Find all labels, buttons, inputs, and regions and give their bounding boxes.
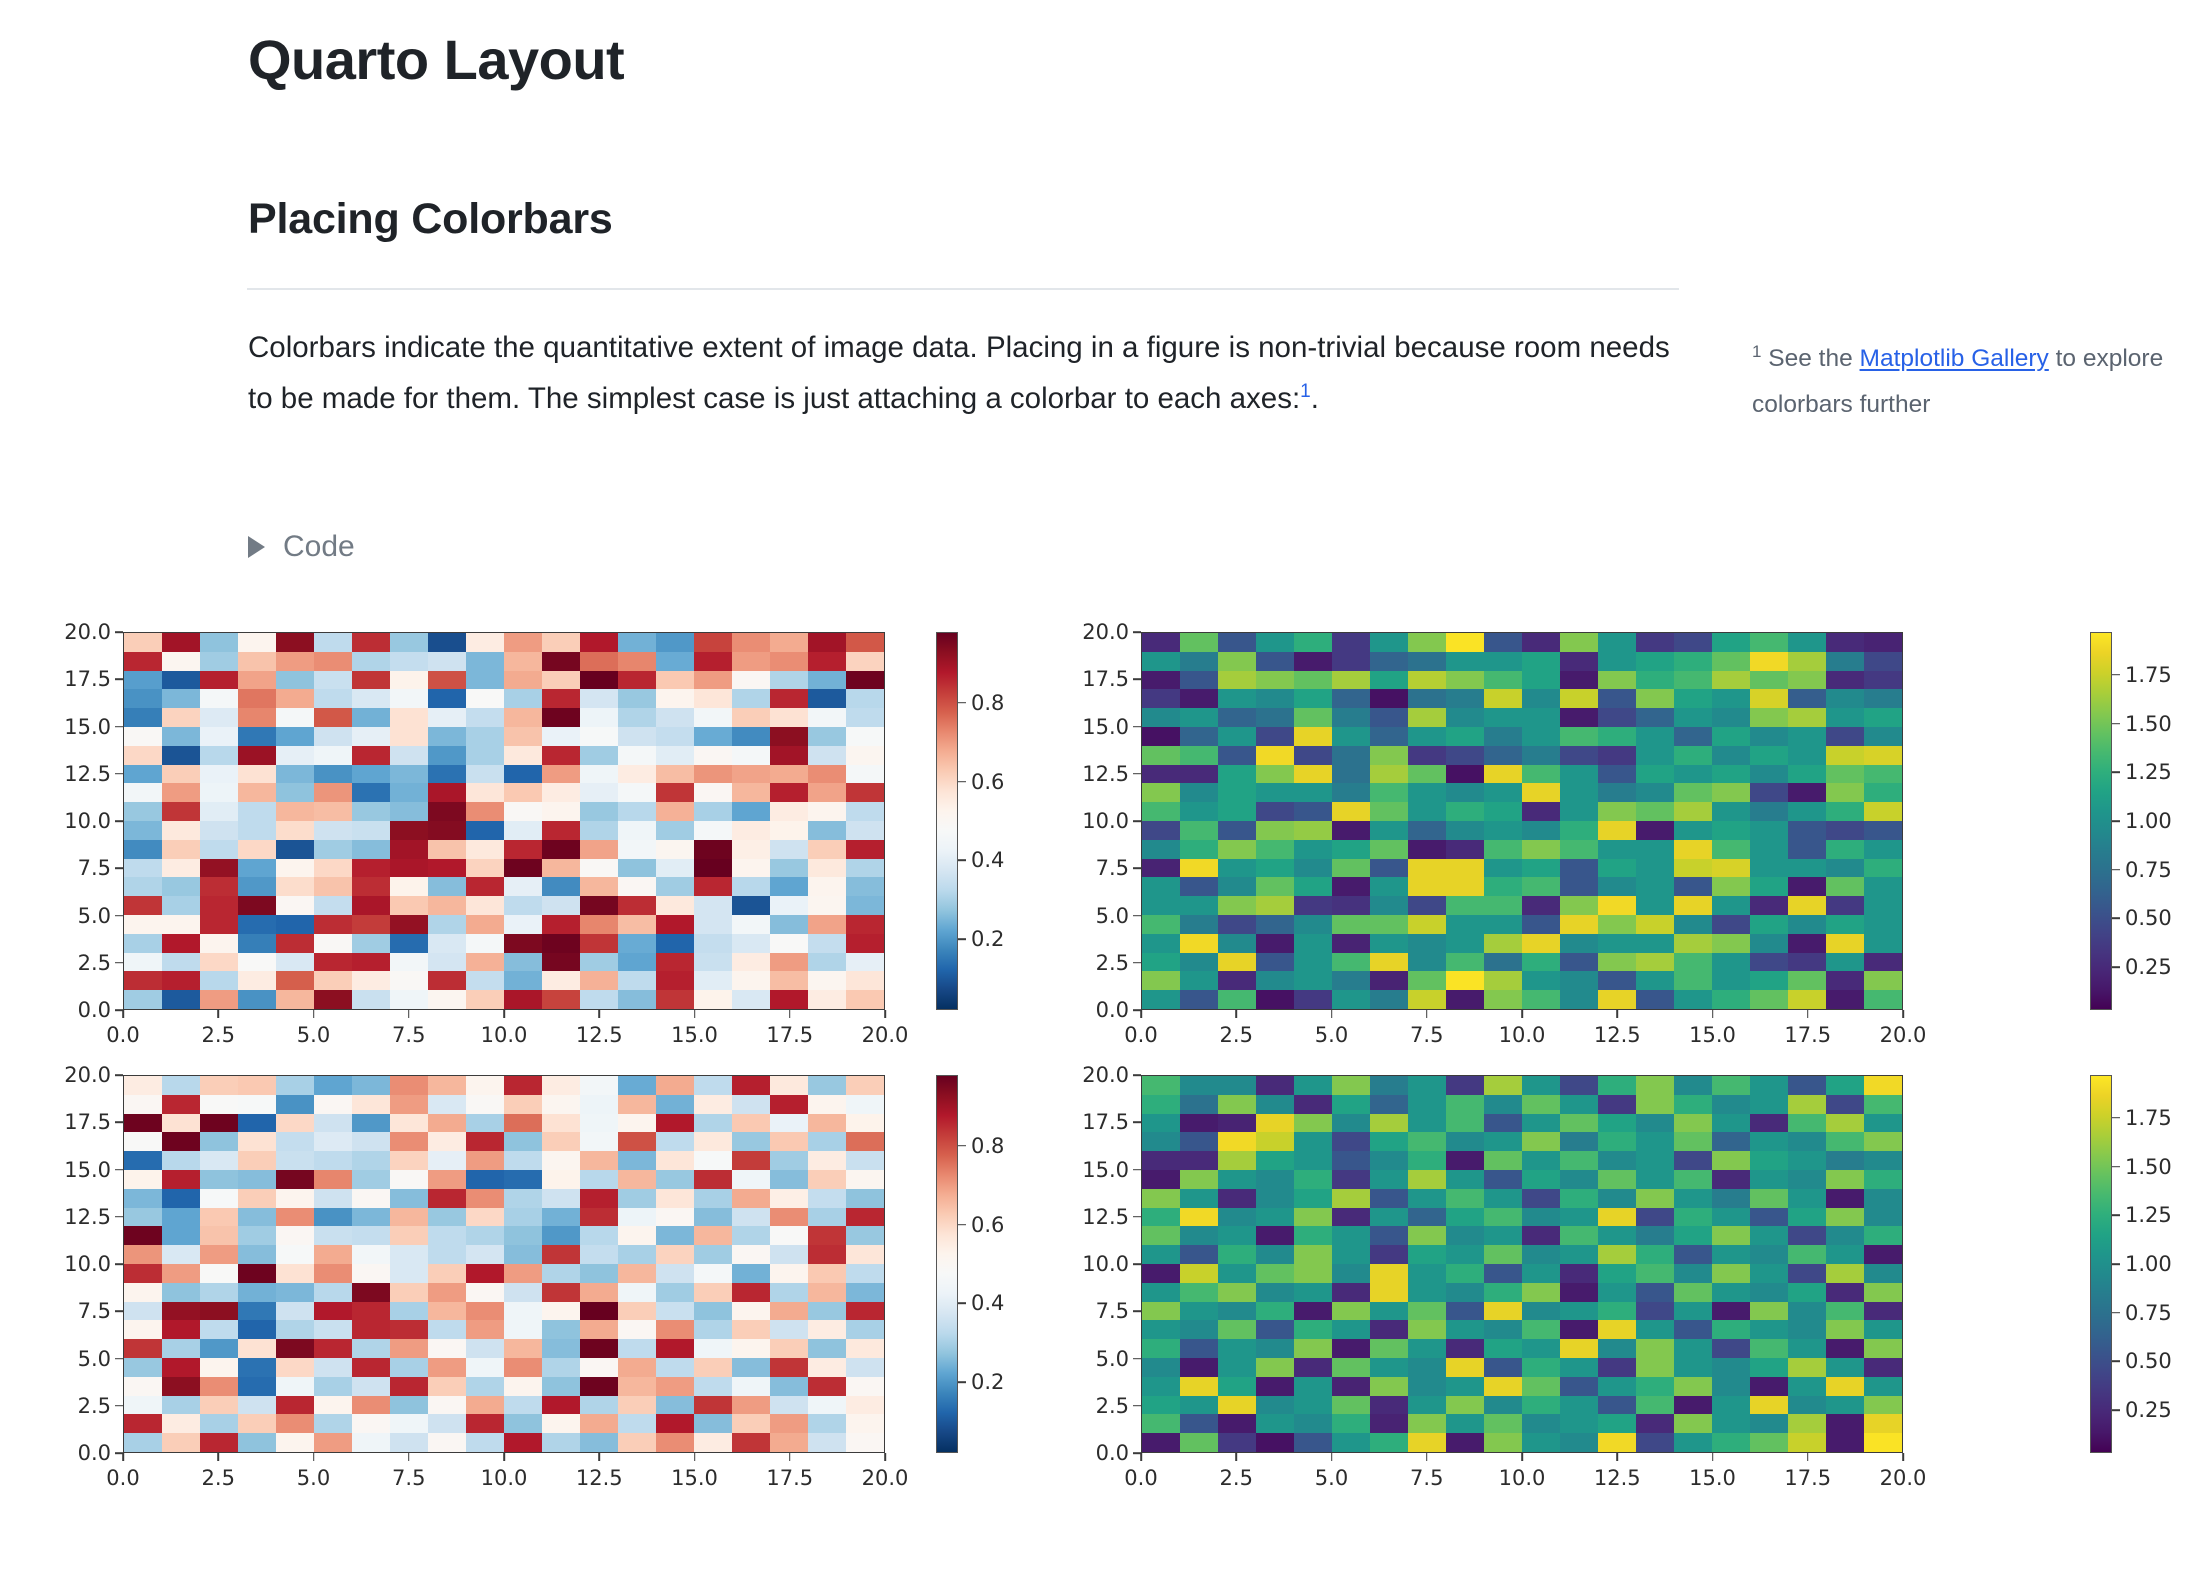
heatmap-cell <box>1484 1396 1522 1415</box>
heatmap-cell <box>770 802 808 821</box>
heatmap-cell <box>694 708 732 727</box>
heatmap-cell <box>352 746 390 765</box>
heatmap-cell <box>694 1377 732 1396</box>
heatmap-cell <box>1598 1358 1636 1377</box>
heatmap-cell <box>1408 859 1446 878</box>
heatmap-cell <box>770 708 808 727</box>
heatmap-cell <box>1598 1114 1636 1133</box>
heatmap-cell <box>1218 689 1256 708</box>
y-axis-tick-mark <box>1133 1074 1141 1076</box>
heatmap-cell <box>466 934 504 953</box>
heatmap-cell <box>1560 953 1598 972</box>
heatmap-cell <box>1294 727 1332 746</box>
heatmap-cell <box>1788 877 1826 896</box>
heatmap-cell <box>1522 1339 1560 1358</box>
heatmap-cell <box>390 1226 428 1245</box>
x-axis-tick-mark <box>1902 1453 1904 1461</box>
heatmap-cell <box>1636 934 1674 953</box>
heatmap-cell <box>1218 708 1256 727</box>
heatmap-cell <box>1256 953 1294 972</box>
heatmap-cell <box>542 1226 580 1245</box>
heatmap-cell <box>1370 783 1408 802</box>
heatmap-cell <box>1788 708 1826 727</box>
heatmap-cell <box>1598 1170 1636 1189</box>
heatmap-cell <box>1180 821 1218 840</box>
heatmap-cell <box>428 990 466 1009</box>
heatmap-cell <box>1332 1170 1370 1189</box>
heatmap-cell <box>1522 1396 1560 1415</box>
heatmap-cell <box>124 1114 162 1133</box>
heatmap-cell <box>808 1095 846 1114</box>
heatmap-cell <box>1256 1264 1294 1283</box>
heatmap-cell <box>162 727 200 746</box>
heatmap-cell <box>466 1283 504 1302</box>
heatmap-cell <box>1294 1377 1332 1396</box>
colorbar-tick-mark <box>2112 723 2120 725</box>
heatmap-cell <box>1598 1245 1636 1264</box>
heatmap-cell <box>1522 877 1560 896</box>
heatmap-cell <box>656 1076 694 1095</box>
heatmap-cell <box>694 1320 732 1339</box>
heatmap-cell <box>1256 746 1294 765</box>
heatmap-cell <box>1370 1170 1408 1189</box>
heatmap-cell <box>276 652 314 671</box>
heatmap-cell <box>1826 990 1864 1009</box>
heatmap-cell <box>1446 783 1484 802</box>
heatmap-cell <box>770 1245 808 1264</box>
heatmap-cell <box>1142 765 1180 784</box>
y-axis-tick-mark <box>1133 1009 1141 1011</box>
heatmap-cell <box>1256 971 1294 990</box>
y-axis-tick-mark <box>115 1263 123 1265</box>
heatmap-cell <box>466 1358 504 1377</box>
heatmap-cell <box>1370 1377 1408 1396</box>
heatmap-cell <box>542 1396 580 1415</box>
heatmap-cell <box>1446 1377 1484 1396</box>
heatmap-cell <box>1256 1433 1294 1452</box>
heatmap-cell <box>808 953 846 972</box>
heatmap-cell <box>694 727 732 746</box>
heatmap-cell <box>390 1264 428 1283</box>
heatmap-cell <box>1332 689 1370 708</box>
heatmap-cell <box>390 1189 428 1208</box>
heatmap-cell <box>1180 1320 1218 1339</box>
heatmap-cell <box>1484 802 1522 821</box>
heatmap-cell <box>1788 1320 1826 1339</box>
colorbar-tick-mark <box>958 781 966 783</box>
heatmap-cell <box>390 1245 428 1264</box>
heatmap-cell <box>694 990 732 1009</box>
heatmap-cell <box>124 1339 162 1358</box>
y-axis-tick-mark <box>1133 1216 1141 1218</box>
heatmap-cell <box>1788 915 1826 934</box>
heatmap-cell <box>428 633 466 652</box>
y-axis-tick-label: 0.0 <box>78 1441 111 1465</box>
heatmap-cell <box>1294 1132 1332 1151</box>
heatmap-cell <box>1370 727 1408 746</box>
heatmap-cell <box>1560 1320 1598 1339</box>
section-divider <box>247 288 1679 290</box>
heatmap-cell <box>466 708 504 727</box>
heatmap-cell <box>808 765 846 784</box>
heatmap-cell <box>1560 802 1598 821</box>
heatmap-cell <box>352 990 390 1009</box>
colorbar-tick-label: 0.50 <box>2125 1349 2172 1373</box>
heatmap-cell <box>808 1320 846 1339</box>
heatmap-cell <box>1408 783 1446 802</box>
heatmap-cell <box>200 896 238 915</box>
heatmap-cell <box>200 1339 238 1358</box>
heatmap-cell <box>1370 990 1408 1009</box>
heatmap-cell <box>1598 1151 1636 1170</box>
heatmap-cell <box>1256 689 1294 708</box>
heatmap-cell <box>808 727 846 746</box>
heatmap-cell <box>1446 934 1484 953</box>
heatmap-cell <box>770 1076 808 1095</box>
colorbar-tick-label: 1.75 <box>2125 1106 2172 1130</box>
heatmap-cell <box>504 708 542 727</box>
heatmap-cell <box>1294 1095 1332 1114</box>
heatmap-cell <box>732 689 770 708</box>
x-axis-tick-mark <box>1902 1010 1904 1018</box>
heatmap-cell <box>1826 783 1864 802</box>
heatmap-cell <box>542 821 580 840</box>
heatmap-cell <box>1522 633 1560 652</box>
heatmap-cell <box>694 896 732 915</box>
x-axis-tick-mark <box>1331 1453 1333 1461</box>
colorbar[interactable] <box>936 632 958 1010</box>
heatmap-cell <box>1636 1208 1674 1227</box>
heatmap-cell <box>618 1226 656 1245</box>
heatmap-cell <box>1294 934 1332 953</box>
heatmap-cell <box>390 1114 428 1133</box>
heatmap-cell <box>1256 1114 1294 1133</box>
x-axis-tick-label: 15.0 <box>671 1466 718 1490</box>
heatmap-cell <box>808 1433 846 1452</box>
colorbar[interactable] <box>2090 1075 2112 1453</box>
y-axis-tick-label: 5.0 <box>1096 904 1129 928</box>
heatmap-cell <box>1674 633 1712 652</box>
heatmap-cell <box>1370 689 1408 708</box>
heatmap-cell <box>694 1226 732 1245</box>
heatmap-cell <box>1180 652 1218 671</box>
heatmap-cell <box>732 1339 770 1358</box>
heatmap-cell <box>200 765 238 784</box>
heatmap-cell <box>770 1414 808 1433</box>
heatmap-cell <box>390 708 428 727</box>
heatmap-cell <box>1332 1076 1370 1095</box>
heatmap-cell <box>1180 971 1218 990</box>
heatmap-cell <box>352 1283 390 1302</box>
y-axis-tick-label: 15.0 <box>1082 715 1129 739</box>
y-axis-tick-mark <box>1133 1121 1141 1123</box>
heatmap-cell <box>1484 1095 1522 1114</box>
heatmap-cell <box>1598 1302 1636 1321</box>
heatmap-cell <box>1294 1264 1332 1283</box>
heatmap-axes[interactable] <box>1141 632 1903 1010</box>
heatmap-cell <box>1826 1132 1864 1151</box>
x-axis-tick-label: 12.5 <box>576 1023 623 1047</box>
heatmap-cell <box>390 1095 428 1114</box>
heatmap-cell <box>428 1320 466 1339</box>
heatmap-cell <box>580 1358 618 1377</box>
code-fold-toggle[interactable]: Code <box>248 530 355 564</box>
heatmap-cell <box>314 652 352 671</box>
x-axis-tick-label: 5.0 <box>297 1023 330 1047</box>
heatmap-cell <box>618 1320 656 1339</box>
heatmap-cell <box>1636 840 1674 859</box>
heatmap-cell <box>1446 1226 1484 1245</box>
heatmap-cell <box>1332 1283 1370 1302</box>
heatmap-cell <box>390 652 428 671</box>
heatmap-cell <box>1826 953 1864 972</box>
heatmap-cell <box>238 1095 276 1114</box>
y-axis-tick-label: 12.5 <box>64 762 111 786</box>
heatmap-cell <box>1864 1132 1902 1151</box>
heatmap-cell <box>1522 1414 1560 1433</box>
heatmap-cell <box>1750 953 1788 972</box>
heatmap-cell <box>1522 783 1560 802</box>
heatmap-cell <box>1332 1132 1370 1151</box>
heatmap-cell <box>846 859 884 878</box>
heatmap-axes[interactable] <box>123 1075 885 1453</box>
heatmap-cell <box>732 1095 770 1114</box>
heatmap-cell <box>1712 953 1750 972</box>
heatmap-cell <box>1218 1320 1256 1339</box>
section-title: Placing Colorbars <box>248 195 613 244</box>
heatmap-cell <box>1788 1339 1826 1358</box>
heatmap-cell <box>580 652 618 671</box>
heatmap-cell <box>656 1208 694 1227</box>
heatmap-cell <box>1180 765 1218 784</box>
heatmap-cell <box>1674 1189 1712 1208</box>
heatmap-cell <box>808 821 846 840</box>
heatmap-cell <box>200 934 238 953</box>
heatmap-cell <box>808 915 846 934</box>
matplotlib-gallery-link[interactable]: Matplotlib Gallery <box>1860 345 2049 372</box>
heatmap-cell <box>200 1208 238 1227</box>
heatmap-cell <box>542 1302 580 1321</box>
heatmap-cell <box>200 971 238 990</box>
heatmap-cell <box>618 783 656 802</box>
heatmap-cell <box>428 1283 466 1302</box>
heatmap-cell <box>1408 1226 1446 1245</box>
heatmap-cell <box>504 934 542 953</box>
heatmap-cell <box>1598 1433 1636 1452</box>
heatmap-cell <box>162 915 200 934</box>
heatmap-cell <box>1826 708 1864 727</box>
heatmap-cell <box>1408 1283 1446 1302</box>
heatmap-cell <box>1408 765 1446 784</box>
heatmap-cell <box>1294 689 1332 708</box>
heatmap-cell <box>1864 765 1902 784</box>
heatmap-cell <box>314 859 352 878</box>
heatmap-cell <box>1712 1377 1750 1396</box>
heatmap-cell <box>1484 652 1522 671</box>
heatmap-cell <box>1826 859 1864 878</box>
heatmap-axes[interactable] <box>1141 1075 1903 1453</box>
heatmap-cell <box>504 821 542 840</box>
heatmap-cell <box>846 840 884 859</box>
heatmap-cell <box>428 896 466 915</box>
heatmap-cell <box>1294 840 1332 859</box>
heatmap-cell <box>238 934 276 953</box>
heatmap-cell <box>1788 990 1826 1009</box>
heatmap-cell <box>770 1114 808 1133</box>
heatmap-cell <box>1674 1114 1712 1133</box>
heatmap-cell <box>694 671 732 690</box>
heatmap-cell <box>1218 1114 1256 1133</box>
heatmap-cell <box>1712 783 1750 802</box>
heatmap-cell <box>1256 821 1294 840</box>
heatmap-cell <box>846 1358 884 1377</box>
colorbar-tick-label: 1.75 <box>2125 663 2172 687</box>
colorbar-tick-label: 1.00 <box>2125 809 2172 833</box>
heatmap-cell <box>238 689 276 708</box>
heatmap-cell <box>1294 1076 1332 1095</box>
heatmap-cell <box>1446 1339 1484 1358</box>
heatmap-cell <box>200 1264 238 1283</box>
heatmap-cell <box>1522 765 1560 784</box>
heatmap-cell <box>580 765 618 784</box>
heatmap-cell <box>1484 1132 1522 1151</box>
heatmap-cell <box>1788 1414 1826 1433</box>
heatmap-cell <box>1294 633 1332 652</box>
x-axis-tick-mark <box>1426 1010 1428 1018</box>
heatmap-cell <box>694 877 732 896</box>
heatmap-cell <box>162 840 200 859</box>
heatmap-cell <box>1484 934 1522 953</box>
heatmap-cell <box>276 840 314 859</box>
footnote-reference-link[interactable]: 1 <box>1300 381 1311 402</box>
heatmap-cell <box>162 671 200 690</box>
heatmap-cell <box>238 821 276 840</box>
heatmap-cell <box>1522 746 1560 765</box>
heatmap-cell <box>314 840 352 859</box>
heatmap-cell <box>1750 689 1788 708</box>
heatmap-cell <box>1598 896 1636 915</box>
colorbar[interactable] <box>936 1075 958 1453</box>
heatmap-cell <box>1180 1433 1218 1452</box>
heatmap-cell <box>1636 896 1674 915</box>
heatmap-cell <box>1560 1114 1598 1133</box>
heatmap-cell <box>1370 1283 1408 1302</box>
heatmap-cell <box>504 1095 542 1114</box>
heatmap-cell <box>466 633 504 652</box>
heatmap-cell <box>238 1358 276 1377</box>
y-axis-tick-label: 17.5 <box>1082 667 1129 691</box>
heatmap-cell <box>1370 1076 1408 1095</box>
heatmap-cell <box>162 877 200 896</box>
heatmap-cell <box>1522 990 1560 1009</box>
heatmap-cell <box>1218 821 1256 840</box>
heatmap-cell <box>846 971 884 990</box>
heatmap-cell <box>1484 1320 1522 1339</box>
heatmap-axes[interactable] <box>123 632 885 1010</box>
heatmap-cell <box>1598 765 1636 784</box>
heatmap-cell <box>162 652 200 671</box>
heatmap-cell <box>1256 1132 1294 1151</box>
heatmap-cell <box>1712 840 1750 859</box>
heatmap-cell <box>1446 915 1484 934</box>
heatmap-cell <box>1522 859 1560 878</box>
heatmap-cell <box>1560 934 1598 953</box>
heatmap-cell <box>1674 783 1712 802</box>
heatmap-cell <box>618 859 656 878</box>
heatmap-cell <box>1598 1414 1636 1433</box>
heatmap-cell <box>770 1302 808 1321</box>
heatmap-cell <box>542 1076 580 1095</box>
heatmap-cell <box>238 1396 276 1415</box>
heatmap-cell <box>1674 689 1712 708</box>
heatmap-cell <box>580 708 618 727</box>
heatmap-cell <box>846 765 884 784</box>
colorbar-tick-mark <box>2112 1166 2120 1168</box>
heatmap-cell <box>1826 1189 1864 1208</box>
y-axis-tick-label: 7.5 <box>1096 1299 1129 1323</box>
heatmap-cell <box>1408 1358 1446 1377</box>
heatmap-cell <box>1712 652 1750 671</box>
heatmap-cell <box>1864 877 1902 896</box>
heatmap-cell <box>1408 1414 1446 1433</box>
heatmap-cell <box>770 727 808 746</box>
heatmap-cell <box>1636 1358 1674 1377</box>
colorbar-tick-label: 0.8 <box>971 691 1004 715</box>
colorbar-tick-mark <box>2112 1361 2120 1363</box>
heatmap-cell <box>1332 633 1370 652</box>
colorbar-tick-label: 0.25 <box>2125 955 2172 979</box>
heatmap-cell <box>1750 1226 1788 1245</box>
heatmap-cell <box>352 765 390 784</box>
heatmap-cell <box>694 652 732 671</box>
heatmap-cell <box>466 915 504 934</box>
heatmap-cell <box>352 652 390 671</box>
heatmap-cell <box>1446 971 1484 990</box>
heatmap-cell <box>1788 896 1826 915</box>
heatmap-cell <box>466 877 504 896</box>
heatmap-cell <box>1560 1414 1598 1433</box>
heatmap-cell <box>428 821 466 840</box>
heatmap-cell <box>1370 671 1408 690</box>
y-axis-tick-mark <box>1133 678 1141 680</box>
heatmap-cell <box>1560 915 1598 934</box>
heatmap-cell <box>656 934 694 953</box>
heatmap-cell <box>124 859 162 878</box>
y-axis-tick-mark <box>1133 631 1141 633</box>
heatmap-cell <box>162 1208 200 1227</box>
heatmap-cell <box>1446 1414 1484 1433</box>
heatmap-cell <box>1294 953 1332 972</box>
heatmap-cell <box>1256 1226 1294 1245</box>
heatmap-cell <box>618 990 656 1009</box>
heatmap-cell <box>1750 652 1788 671</box>
heatmap-cell <box>390 671 428 690</box>
heatmap-cell <box>238 633 276 652</box>
heatmap-cell <box>238 1264 276 1283</box>
heatmap-cell <box>656 802 694 821</box>
x-axis-tick-mark <box>694 1010 696 1018</box>
heatmap-cell <box>1180 990 1218 1009</box>
heatmap-cell <box>1256 633 1294 652</box>
heatmap-cell <box>542 1283 580 1302</box>
heatmap-cell <box>846 1264 884 1283</box>
heatmap-cell <box>1674 1283 1712 1302</box>
colorbar[interactable] <box>2090 632 2112 1010</box>
heatmap-cell <box>466 1076 504 1095</box>
y-axis-tick-label: 15.0 <box>64 715 111 739</box>
heatmap-cell <box>1484 1208 1522 1227</box>
heatmap-cell <box>1674 802 1712 821</box>
